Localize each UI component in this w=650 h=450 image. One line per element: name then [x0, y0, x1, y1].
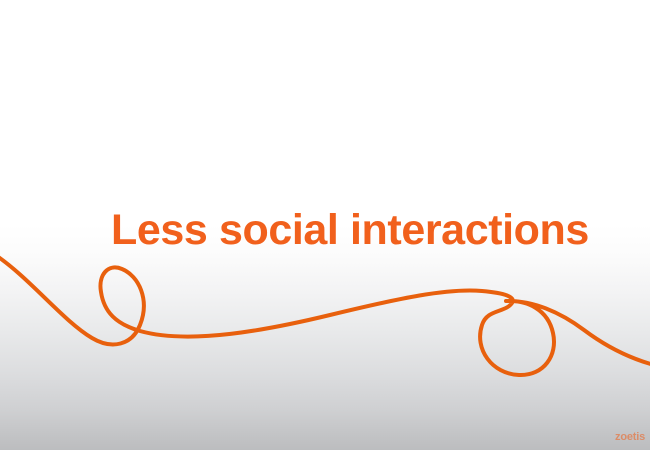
ribbon-path [0, 254, 650, 375]
zoetis-logo-watermark: zoetis [615, 431, 645, 443]
slide-canvas: Less social interactions zoetis [0, 0, 650, 450]
page-title: Less social interactions [111, 209, 571, 252]
